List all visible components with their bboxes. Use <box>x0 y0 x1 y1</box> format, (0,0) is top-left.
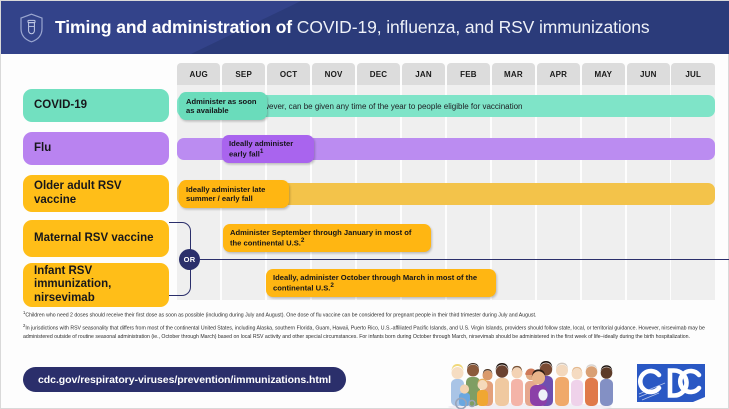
callout-text: Ideally administer late summer / early f… <box>186 185 282 204</box>
timeline-note-covid-19: However, can be given any time of the ye… <box>241 95 711 117</box>
cdc-logo <box>635 361 707 405</box>
month-header-jun: JUN <box>627 63 670 85</box>
row-label-older-adult-rsv-vaccine: Older adult RSV vaccine <box>23 175 169 212</box>
month-header-may: MAY <box>582 63 625 85</box>
callout-covid-19: Administer as soon as available <box>179 92 267 120</box>
callout-text: Administer as soon as available <box>186 97 260 116</box>
month-header-mar: MAR <box>492 63 535 85</box>
month-header-dec: DEC <box>357 63 400 85</box>
or-connector-line <box>199 259 729 261</box>
month-header-apr: APR <box>537 63 580 85</box>
or-badge: OR <box>179 249 200 270</box>
page-title-light: COVID-19, influenza, and RSV immunizatio… <box>292 17 650 37</box>
shield-vaccine-icon <box>19 13 44 43</box>
footnote-1: 1Children who need 2 doses should receiv… <box>23 310 713 320</box>
row-label-maternal-rsv-vaccine: Maternal RSV vaccine <box>23 220 169 257</box>
timeline-chart: AUG SEP OCT NOV DEC JAN FEB MAR APR MAY … <box>1 54 729 306</box>
callout-text: Ideally administer early fall1 <box>229 139 307 160</box>
month-header-feb: FEB <box>447 63 490 85</box>
footnote-text: Children who need 2 doses should receive… <box>25 313 536 319</box>
group-of-people-illustration <box>445 357 615 409</box>
callout-footnote-marker: 1 <box>260 148 264 155</box>
month-header-nov: NOV <box>312 63 355 85</box>
month-header-jan: JAN <box>402 63 445 85</box>
month-header-aug: AUG <box>177 63 220 85</box>
footnote-2: 2In jurisdictions with RSV seasonality t… <box>23 323 713 342</box>
row-label-text: Flu <box>34 142 51 155</box>
row-label-text: COVID-19 <box>34 99 87 112</box>
footnotes-section: 1Children who need 2 doses should receiv… <box>23 310 713 345</box>
month-header-oct: OCT <box>267 63 310 85</box>
page-title-bold: Timing and administration of <box>55 17 292 37</box>
callout-flu: Ideally administer early fall1 <box>222 135 314 163</box>
cdc-url-pill[interactable]: cdc.gov/respiratory-viruses/prevention/i… <box>23 367 346 392</box>
row-label-text: Maternal RSV vaccine <box>34 232 154 245</box>
row-label-covid-19: COVID-19 <box>23 89 169 122</box>
footnote-text: In jurisdictions with RSV seasonality th… <box>23 326 705 340</box>
page-header: Timing and administration of COVID-19, i… <box>1 1 729 54</box>
row-label-text: Older adult RSV vaccine <box>34 180 158 207</box>
callout-older-adult-rsv: Ideally administer late summer / early f… <box>179 180 289 208</box>
row-label-flu: Flu <box>23 132 169 165</box>
or-connector-group: OR <box>169 222 729 302</box>
cdc-url-text: cdc.gov/respiratory-viruses/prevention/i… <box>38 374 331 386</box>
infographic-page: Timing and administration of COVID-19, i… <box>0 0 729 409</box>
row-label-infant-rsv-immunization: Infant RSV immunization, nirsevimab <box>23 263 169 307</box>
row-label-text: Infant RSV immunization, nirsevimab <box>34 265 158 305</box>
page-title: Timing and administration of COVID-19, i… <box>55 17 650 38</box>
month-header-sep: SEP <box>222 63 265 85</box>
month-header-jul: JUL <box>671 63 714 85</box>
month-header-row: AUG SEP OCT NOV DEC JAN FEB MAR APR MAY … <box>177 63 715 85</box>
